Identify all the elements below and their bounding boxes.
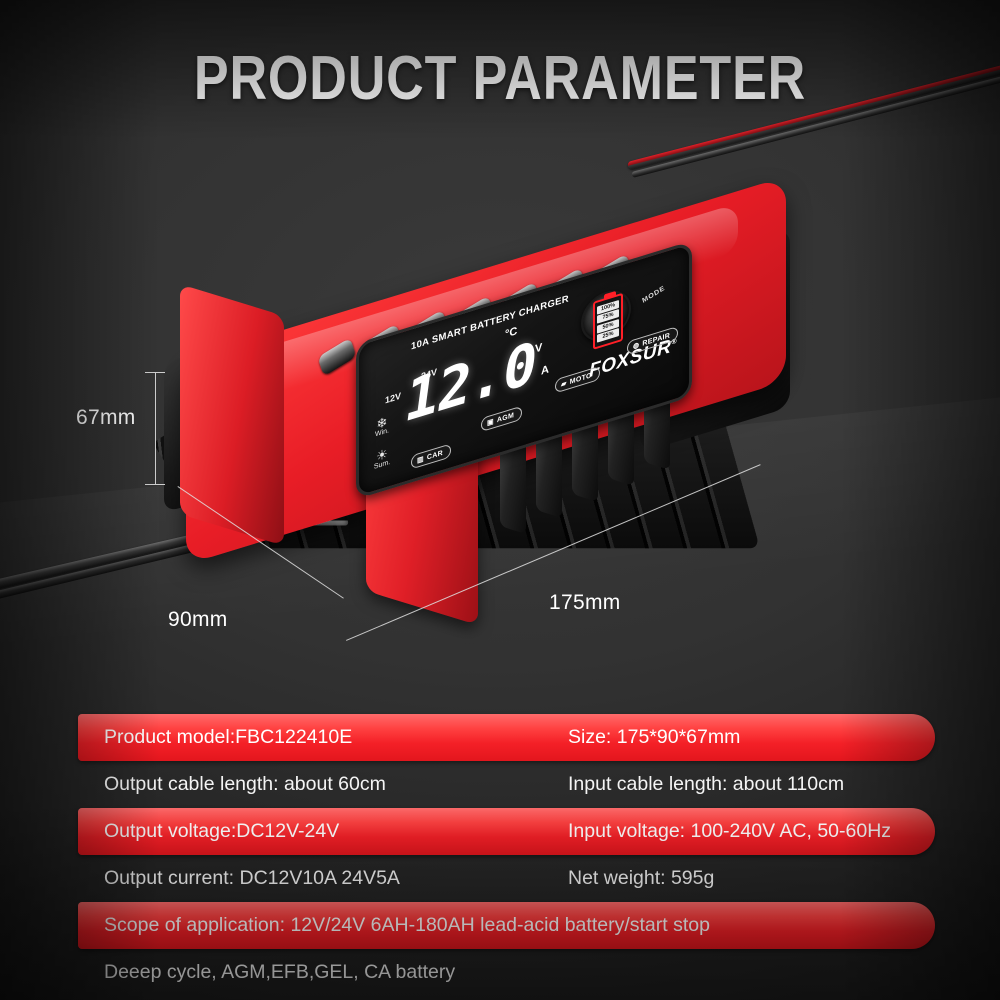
table-row: Product model:FBC122410E Size: 175*90*67… (0, 714, 1000, 761)
spec-right-value: Size: 175*90*67mm (568, 714, 740, 761)
battery-charger-body: 10A SMART BATTERY CHARGER MODE FOXSUR® 1… (170, 150, 810, 650)
spec-left-value: Product model:FBC122410E (104, 714, 352, 761)
spec-table: Product model:FBC122410E Size: 175*90*67… (0, 714, 1000, 996)
display-unit-amp: A (541, 363, 549, 377)
product-photo: 10A SMART BATTERY CHARGER MODE FOXSUR® 1… (0, 120, 1000, 700)
charger-red-band-left (180, 284, 284, 546)
table-row: Output current: DC12V10A 24V5A Net weigh… (0, 855, 1000, 902)
table-row: Scope of application: 12V/24V 6AH-180AH … (0, 902, 1000, 949)
badge-agm-label: AGM (497, 412, 514, 424)
summer-mode-indicator: ☀ Sum. (369, 444, 395, 472)
spec-left-value: Output cable length: about 60cm (104, 761, 386, 808)
spec-right-value: Input cable length: about 110cm (568, 761, 844, 808)
table-row: Output cable length: about 60cm Input ca… (0, 761, 1000, 808)
badge-car[interactable]: ▥CAR (411, 443, 451, 469)
battery-level-indicator: 100% 75% 50% 25% (593, 293, 623, 350)
spec-left-value: Output current: DC12V10A 24V5A (104, 855, 400, 902)
badge-moto-label: MOTO (570, 372, 592, 386)
badge-car-label: CAR (427, 450, 443, 462)
repair-icon: ◍ (633, 342, 639, 351)
spec-left-value: Deeep cycle, AGM,EFB,GEL, CA battery (104, 949, 455, 996)
spec-left-value: Output voltage:DC12V-24V (104, 808, 339, 855)
table-row: Output voltage:DC12V-24V Input voltage: … (0, 808, 1000, 855)
spec-right-value: Net weight: 595g (568, 855, 714, 902)
page-title: PRODUCT PARAMETER (80, 46, 920, 112)
table-row: Deeep cycle, AGM,EFB,GEL, CA battery (0, 949, 1000, 996)
spec-left-value: Scope of application: 12V/24V 6AH-180AH … (104, 902, 710, 949)
winter-mode-indicator: ❄ Win. (369, 412, 395, 440)
product-parameter-page: PRODUCT PARAMETER (0, 0, 1000, 1000)
depth-dimension-label: 90mm (168, 608, 228, 632)
spec-right-value: Input voltage: 100-240V AC, 50-60Hz (568, 808, 891, 855)
mode-button-label: MODE (641, 285, 665, 305)
height-dimension-line (155, 372, 156, 484)
display-label-12v: 12V (385, 391, 401, 406)
motorcycle-icon: ▰ (561, 380, 567, 389)
badge-moto[interactable]: ▰MOTO (555, 366, 600, 394)
height-dimension-cap-bottom (145, 484, 165, 485)
car-icon: ▥ (417, 456, 424, 465)
height-dimension-label: 67mm (76, 406, 136, 430)
height-dimension-cap-top (145, 372, 165, 373)
agm-battery-icon: ▣ (487, 418, 494, 427)
length-dimension-label: 175mm (549, 591, 621, 615)
